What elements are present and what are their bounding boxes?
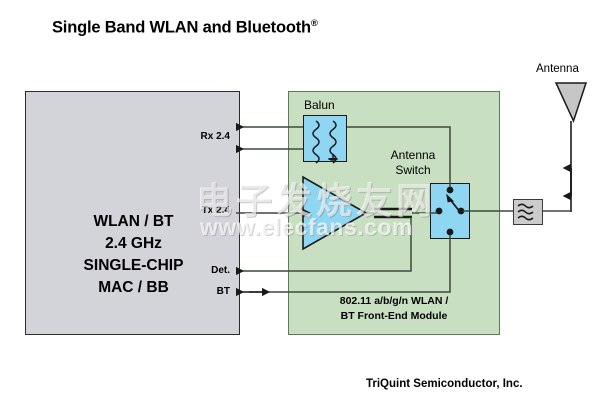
antenna-switch-block — [430, 183, 470, 239]
footer-company-name: TriQuint Semiconductor, Inc. — [366, 378, 523, 390]
balun-label: Balun — [304, 98, 335, 112]
port-label-tx: Tx 2.4 — [160, 205, 230, 216]
port-label-rx: Rx 2.4 — [160, 131, 230, 142]
antenna-icon — [556, 83, 586, 212]
bandpass-filter-block — [513, 199, 543, 225]
balun-block — [303, 115, 347, 162]
diagram-canvas: Single Band WLAN and Bluetooth® WLAN / B… — [0, 0, 615, 411]
port-label-det: Det. — [160, 265, 230, 276]
page-title-text: Single Band WLAN and Bluetooth — [52, 19, 311, 37]
antenna-label: Antenna — [536, 63, 579, 75]
front-end-module-caption: 802.11 a/b/g/n WLAN / BT Front-End Modul… — [288, 294, 500, 324]
page-title: Single Band WLAN and Bluetooth® — [52, 18, 318, 38]
antenna-switch-label: Antenna Switch — [368, 148, 458, 178]
registered-trademark-symbol: ® — [311, 18, 318, 29]
port-label-bt: BT — [160, 286, 230, 297]
